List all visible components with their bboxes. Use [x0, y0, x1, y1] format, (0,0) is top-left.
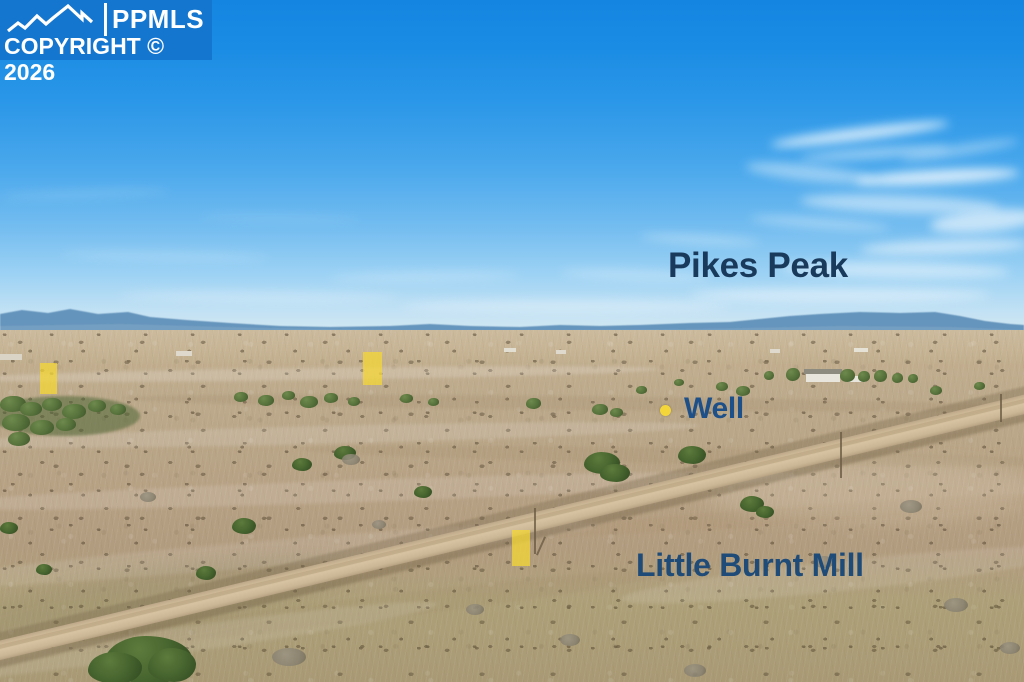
mountain-peaks-icon: [6, 4, 98, 34]
boundary-flag-center: [363, 352, 382, 385]
utility-pole: [840, 432, 842, 478]
property-photo: Pikes Peak Well Little Burnt Mill PPMLS …: [0, 0, 1024, 682]
watermark-divider: [104, 3, 107, 36]
well-marker-dot: [660, 405, 671, 416]
boundary-flag-road: [512, 530, 530, 566]
cloud: [330, 270, 520, 282]
cloud: [750, 213, 890, 233]
watermark-brand: PPMLS: [112, 4, 204, 34]
label-little-burnt-mill: Little Burnt Mill: [636, 547, 864, 584]
cloud: [200, 214, 360, 224]
cloud: [860, 237, 1024, 257]
cloud: [60, 250, 270, 262]
cloud: [0, 187, 170, 201]
label-pikes-peak: Pikes Peak: [668, 246, 848, 286]
label-well: Well: [684, 392, 744, 426]
cloud: [745, 158, 876, 188]
cloud: [855, 166, 1021, 189]
dirt-road-layer: [0, 330, 1024, 682]
utility-pole: [534, 508, 536, 554]
ppmls-watermark: PPMLS COPYRIGHT © 2026: [0, 0, 212, 60]
boundary-flag-left: [40, 363, 57, 394]
cloud: [640, 232, 760, 247]
watermark-copyright: COPYRIGHT © 2026: [4, 33, 212, 85]
utility-pole: [1000, 394, 1002, 422]
